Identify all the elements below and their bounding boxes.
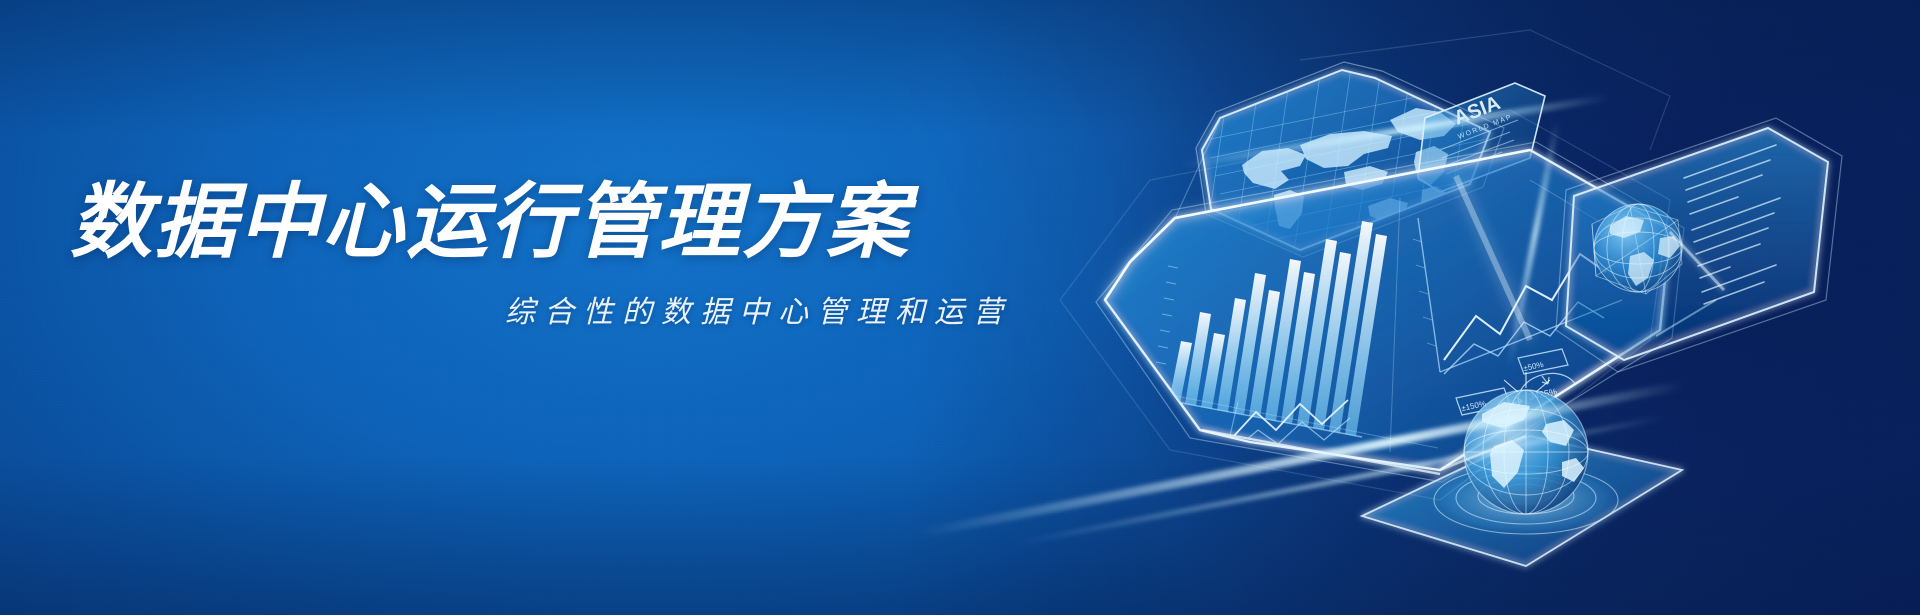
- hero-banner: 数据中心运行管理方案 综合性的数据中心管理和运营: [0, 0, 1920, 615]
- banner-subtitle: 综合性的数据中心管理和运营: [70, 287, 1030, 331]
- hologram-illustration: ASIA WORLD MAP: [970, 0, 1920, 615]
- document-panel: [1556, 118, 1842, 372]
- banner-title: 数据中心运行管理方案: [70, 180, 1030, 265]
- flow-label-right: 350%: [1613, 385, 1638, 400]
- banner-text-block: 数据中心运行管理方案 综合性的数据中心管理和运营: [70, 180, 1030, 331]
